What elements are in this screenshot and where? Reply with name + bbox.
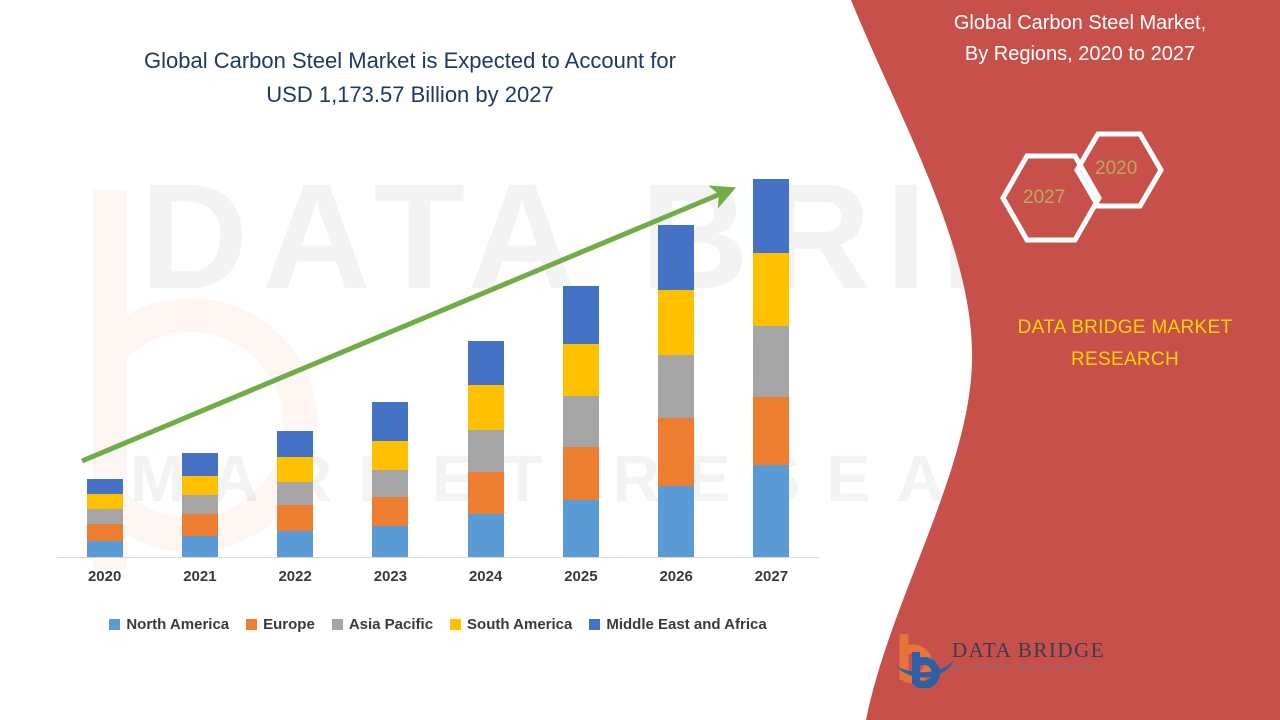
hexagon-badges: 2027 2020 — [985, 128, 1185, 268]
legend-item-south-america[interactable]: South America — [450, 616, 572, 633]
bar-segment-north-america — [87, 541, 123, 557]
x-axis-label-2021: 2021 — [165, 568, 235, 585]
bar-2025[interactable] — [563, 286, 599, 557]
bar-segment-middle-east-and-africa — [87, 479, 123, 494]
stacked-bar-chart-plot — [57, 150, 819, 558]
bar-segment-north-america — [372, 526, 408, 557]
bar-segment-middle-east-and-africa — [753, 179, 789, 253]
chart-title: Global Carbon Steel Market is Expected t… — [40, 44, 780, 112]
bar-segment-south-america — [87, 494, 123, 509]
bar-segment-asia-pacific — [87, 509, 123, 524]
bar-segment-asia-pacific — [753, 326, 789, 397]
bar-2027[interactable] — [753, 179, 789, 557]
x-axis-label-2026: 2026 — [641, 568, 711, 585]
brand-name: DATA BRIDGE MARKET RESEARCH — [975, 312, 1275, 376]
bar-2023[interactable] — [372, 402, 408, 557]
brand-line-1: DATA BRIDGE MARKET — [975, 312, 1275, 344]
legend-swatch-icon — [109, 619, 120, 630]
bar-segment-south-america — [372, 441, 408, 469]
bar-segment-south-america — [182, 476, 218, 495]
x-axis-labels: 20202021202220232024202520262027 — [57, 568, 819, 592]
bar-segment-middle-east-and-africa — [182, 453, 218, 475]
bar-segment-asia-pacific — [563, 396, 599, 447]
hex-label-2020: 2020 — [1095, 158, 1137, 180]
bar-segment-europe — [372, 497, 408, 527]
bar-segment-middle-east-and-africa — [658, 225, 694, 290]
data-bridge-logo: DATA BRIDGE MARKET RESEARCH — [890, 630, 1110, 694]
x-axis-label-2027: 2027 — [736, 568, 806, 585]
bar-segment-north-america — [753, 465, 789, 557]
bar-segment-asia-pacific — [468, 430, 504, 472]
bar-segment-north-america — [182, 536, 218, 557]
bar-segment-middle-east-and-africa — [372, 402, 408, 441]
legend-item-europe[interactable]: Europe — [246, 616, 315, 633]
bar-segment-north-america — [277, 531, 313, 557]
bar-2021[interactable] — [182, 453, 218, 557]
legend-swatch-icon — [332, 619, 343, 630]
bar-segment-south-america — [658, 290, 694, 354]
x-axis-label-2022: 2022 — [260, 568, 330, 585]
legend-swatch-icon — [450, 619, 461, 630]
bar-segment-asia-pacific — [658, 355, 694, 418]
bar-segment-europe — [277, 505, 313, 530]
bar-segment-europe — [753, 397, 789, 465]
legend-label: Middle East and Africa — [606, 616, 766, 633]
infographic-slide: DATA BRIDGE MARKET RESEARCH Global Carbo… — [0, 0, 1280, 720]
panel-title-line-2: By Regions, 2020 to 2027 — [900, 39, 1260, 70]
bar-segment-asia-pacific — [277, 482, 313, 505]
chart-title-line-2: USD 1,173.57 Billion by 2027 — [40, 78, 780, 112]
bar-2024[interactable] — [468, 341, 504, 557]
x-axis-label-2025: 2025 — [546, 568, 616, 585]
x-axis-label-2020: 2020 — [70, 568, 140, 585]
bar-2020[interactable] — [87, 479, 123, 557]
bar-segment-south-america — [277, 457, 313, 481]
hexagon-outlines — [985, 128, 1185, 268]
legend-label: Asia Pacific — [349, 616, 433, 633]
chart-legend: North AmericaEuropeAsia PacificSouth Ame… — [57, 616, 819, 633]
logo-sub-text: MARKET RESEARCH — [954, 663, 1094, 672]
bar-2026[interactable] — [658, 225, 694, 557]
legend-label: South America — [467, 616, 572, 633]
bar-segment-asia-pacific — [182, 495, 218, 514]
brand-line-2: RESEARCH — [975, 344, 1275, 376]
bar-segment-europe — [563, 447, 599, 500]
x-axis-line — [57, 557, 819, 558]
hex-label-2027: 2027 — [1023, 187, 1065, 209]
legend-label: Europe — [263, 616, 315, 633]
logo-mark-icon — [890, 630, 960, 688]
bar-segment-europe — [658, 418, 694, 486]
bar-segment-europe — [182, 514, 218, 535]
legend-item-asia-pacific[interactable]: Asia Pacific — [332, 616, 433, 633]
legend-label: North America — [126, 616, 229, 633]
legend-swatch-icon — [589, 619, 600, 630]
logo-main-text: DATA BRIDGE — [952, 638, 1105, 663]
bar-segment-south-america — [563, 344, 599, 396]
bar-segment-middle-east-and-africa — [277, 431, 313, 457]
chart-title-line-1: Global Carbon Steel Market is Expected t… — [40, 44, 780, 78]
x-axis-label-2024: 2024 — [451, 568, 521, 585]
legend-swatch-icon — [246, 619, 257, 630]
bar-segment-europe — [468, 472, 504, 515]
bar-segment-north-america — [563, 500, 599, 557]
bar-segment-south-america — [468, 385, 504, 430]
legend-item-north-america[interactable]: North America — [109, 616, 229, 633]
bar-segment-north-america — [658, 486, 694, 557]
bar-segment-north-america — [468, 514, 504, 557]
panel-title-line-1: Global Carbon Steel Market, — [900, 8, 1260, 39]
bar-segment-middle-east-and-africa — [468, 341, 504, 385]
bar-segment-europe — [87, 524, 123, 540]
bar-segment-asia-pacific — [372, 470, 408, 497]
bar-segment-south-america — [753, 253, 789, 326]
x-axis-label-2023: 2023 — [355, 568, 425, 585]
legend-item-middle-east-and-africa[interactable]: Middle East and Africa — [589, 616, 766, 633]
panel-title: Global Carbon Steel Market, By Regions, … — [900, 8, 1260, 70]
bar-2022[interactable] — [277, 431, 313, 557]
bar-segment-middle-east-and-africa — [563, 286, 599, 344]
